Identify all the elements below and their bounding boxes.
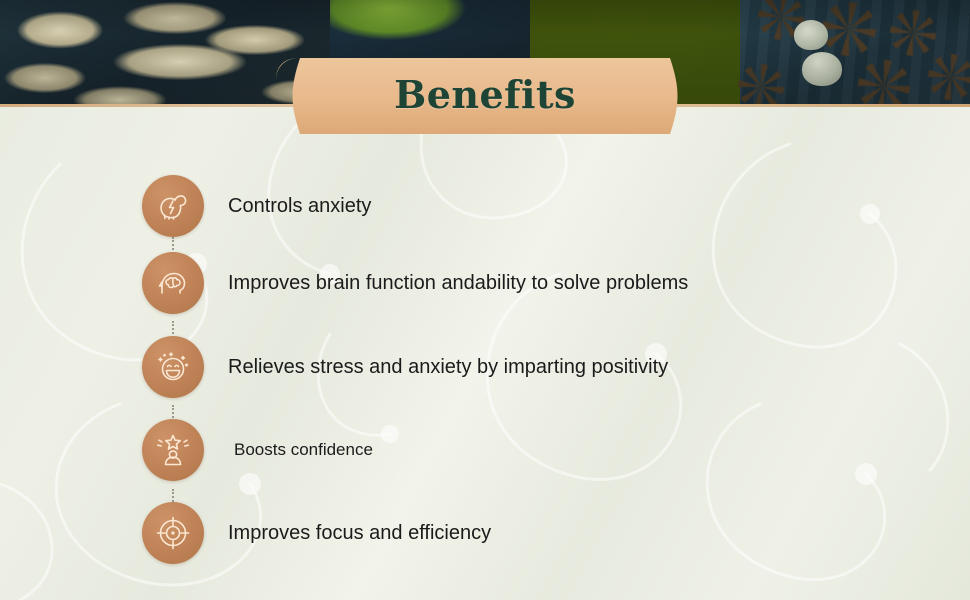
list-item-label: Controls anxiety	[228, 195, 371, 218]
list-item[interactable]: Boosts confidence	[142, 419, 373, 481]
list-item[interactable]: Improves brain function andability to so…	[142, 252, 688, 314]
benefits-list: Controls anxiety Improves brain function…	[0, 104, 970, 600]
list-item-label: Relieves stress and anxiety by imparting…	[228, 356, 668, 379]
list-item[interactable]: Controls anxiety	[142, 175, 371, 237]
smiling-face-sparkles-icon	[142, 336, 204, 398]
list-item[interactable]: Relieves stress and anxiety by imparting…	[142, 336, 668, 398]
list-item-label: Improves brain function andability to so…	[228, 272, 688, 295]
list-item[interactable]: Improves focus and efficiency	[142, 502, 491, 564]
head-lightning-icon	[142, 175, 204, 237]
benefits-infographic: Benefits Controls anxiety	[0, 0, 970, 600]
list-item-label: Improves focus and efficiency	[228, 522, 491, 545]
target-crosshair-icon	[142, 502, 204, 564]
list-item-label: Boosts confidence	[234, 440, 373, 460]
person-star-icon	[142, 419, 204, 481]
head-brain-icon	[142, 252, 204, 314]
